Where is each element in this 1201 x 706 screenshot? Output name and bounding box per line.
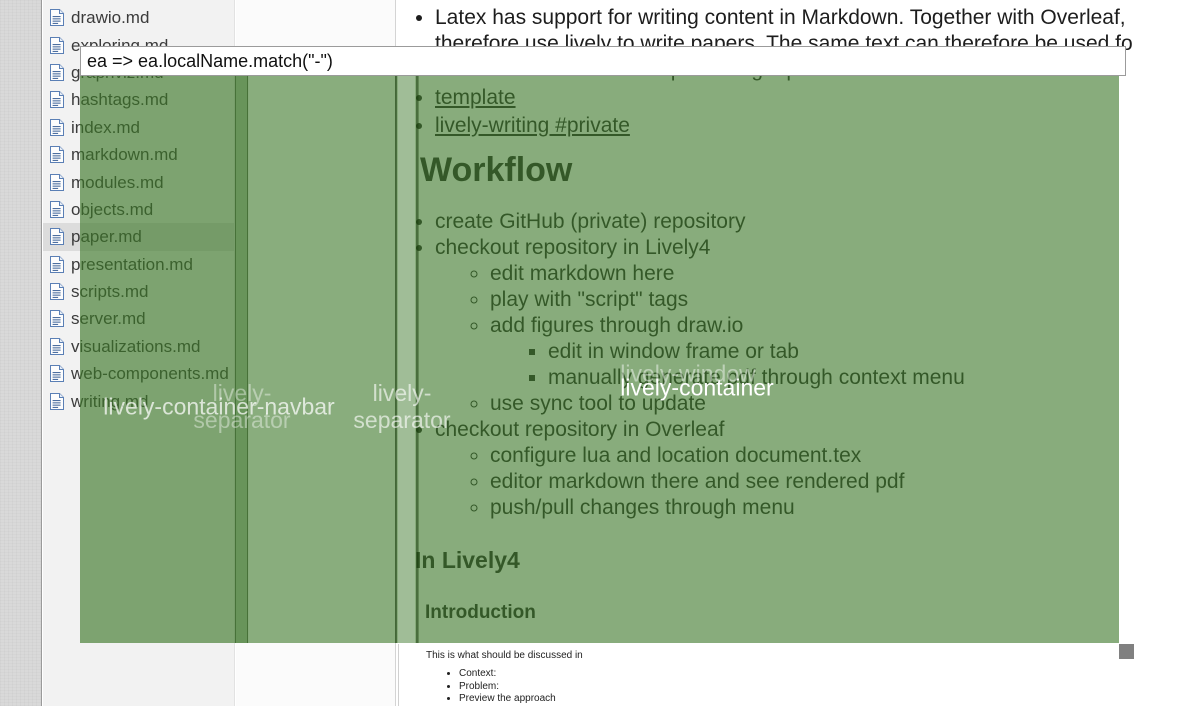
file-document-icon xyxy=(50,91,64,108)
list-item-label: play with "script" tags xyxy=(490,288,688,311)
lively-container-navbar-pane[interactable]: drawio.md exploring.md graphviz.md hasht… xyxy=(43,0,235,706)
file-list-item-label: scripts.md xyxy=(71,283,148,300)
file-list-item[interactable]: markdown.md xyxy=(43,141,234,168)
heading-in-lively4: In Lively4 xyxy=(415,549,1201,572)
list-item: template xyxy=(435,85,1201,111)
list-item-label: create GitHub (private) repository xyxy=(435,210,745,233)
file-list-item[interactable]: visualizations.md xyxy=(43,333,234,360)
file-list-item-label: markdown.md xyxy=(71,146,178,163)
file-list-item-label: objects.md xyxy=(71,201,153,218)
nested-list: configure lua and location document.texe… xyxy=(435,443,1201,521)
file-document-icon xyxy=(50,338,64,355)
heading-introduction: Introduction xyxy=(425,603,1201,622)
query-input[interactable] xyxy=(87,51,1125,72)
file-list-item[interactable]: presentation.md xyxy=(43,251,234,278)
file-document-icon xyxy=(50,119,64,136)
file-list-item-label: server.md xyxy=(71,310,146,327)
desktop-background xyxy=(0,0,42,706)
nested-bullet-list: Context:Problem:Preview the approachList… xyxy=(426,668,1201,706)
file-list-item-label: visualizations.md xyxy=(71,338,200,355)
list-item-label: editor markdown there and see rendered p… xyxy=(490,470,904,493)
list-item: create GitHub (private) repository xyxy=(435,209,1201,235)
file-list-item-label: index.md xyxy=(71,119,140,136)
nested-list: edit in window frame or tabmanually gene… xyxy=(490,339,1201,391)
file-list-item[interactable]: web-components.md xyxy=(43,360,234,387)
list-item-label: configure lua and location document.tex xyxy=(490,444,861,467)
nested-list: edit markdown hereplay with "script" tag… xyxy=(435,261,1201,417)
list-item: push/pull changes through menu xyxy=(490,495,1201,521)
file-document-icon xyxy=(50,283,64,300)
list-item: Preview the approach xyxy=(459,693,1201,706)
list-item: manually generate pdf through context me… xyxy=(548,365,1201,391)
list-item: checkout repository in Overleafconfigure… xyxy=(435,417,1201,521)
file-document-icon xyxy=(50,174,64,191)
list-item: add figures through draw.ioedit in windo… xyxy=(490,313,1201,391)
markdown-document: Latex has support for writing content in… xyxy=(397,0,1201,622)
file-document-icon xyxy=(50,9,64,26)
file-list-item[interactable]: drawio.md xyxy=(43,4,234,31)
file-document-icon xyxy=(50,365,64,382)
list-item: edit markdown here xyxy=(490,261,1201,287)
heading-workflow: Workflow xyxy=(420,153,1201,187)
file-document-icon xyxy=(50,393,64,410)
file-list-item[interactable]: index.md xyxy=(43,114,234,141)
file-list-item-label: modules.md xyxy=(71,174,164,191)
file-list-item-label: hashtags.md xyxy=(71,91,168,108)
list-item: play with "script" tags xyxy=(490,287,1201,313)
file-list-item-label: presentation.md xyxy=(71,256,193,273)
nested-document-preview[interactable]: This is what should be discussed in Cont… xyxy=(398,644,1201,706)
file-list-item[interactable]: paper.md xyxy=(43,223,234,250)
intro-line-1: Latex has support for writing content in… xyxy=(435,6,1126,29)
list-item: use sync tool to update xyxy=(490,391,1201,417)
file-document-icon xyxy=(50,37,64,54)
list-item: configure lua and location document.tex xyxy=(490,443,1201,469)
list-item-label: edit in window frame or tab xyxy=(548,340,799,363)
list-item: editor markdown there and see rendered p… xyxy=(490,469,1201,495)
query-input-container[interactable] xyxy=(80,46,1126,76)
file-list-item[interactable]: modules.md xyxy=(43,168,234,195)
file-list-item[interactable]: objects.md xyxy=(43,196,234,223)
list-item-label: edit markdown here xyxy=(490,262,674,285)
file-list-item-label: writing.md xyxy=(71,393,148,410)
file-list-item-label: paper.md xyxy=(71,228,142,245)
nested-lead-text: This is what should be discussed in xyxy=(426,649,1201,662)
file-list-item[interactable]: writing.md xyxy=(43,387,234,414)
list-item: Problem: xyxy=(459,681,1201,694)
link-template[interactable]: template xyxy=(435,86,516,109)
navbar-secondary-pane xyxy=(236,0,396,706)
lively-container-content[interactable]: Latex has support for writing content in… xyxy=(397,0,1201,706)
file-document-icon xyxy=(50,310,64,327)
file-document-icon xyxy=(50,201,64,218)
link-lively-writing[interactable]: lively-writing #private xyxy=(435,114,630,137)
app-root: drawio.md exploring.md graphviz.md hasht… xyxy=(0,0,1201,706)
list-item: lively-writing #private xyxy=(435,113,1201,139)
list-item: Context: xyxy=(459,668,1201,681)
file-list-item[interactable]: hashtags.md xyxy=(43,86,234,113)
workflow-list: create GitHub (private) repositorychecko… xyxy=(397,209,1201,521)
file-list-item[interactable]: scripts.md xyxy=(43,278,234,305)
file-document-icon xyxy=(50,146,64,163)
list-item-label: add figures through draw.io xyxy=(490,314,743,337)
file-document-icon xyxy=(50,256,64,273)
list-item-label: use sync tool to update xyxy=(490,392,706,415)
list-item-label: manually generate pdf through context me… xyxy=(548,366,965,389)
file-list-item[interactable]: server.md xyxy=(43,305,234,332)
list-item-label: checkout repository in Lively4 xyxy=(435,236,710,259)
file-document-icon xyxy=(50,228,64,245)
list-item: checkout repository in Lively4edit markd… xyxy=(435,235,1201,417)
file-document-icon xyxy=(50,64,64,81)
list-item: edit in window frame or tab xyxy=(548,339,1201,365)
file-list-item-label: drawio.md xyxy=(71,9,149,26)
list-item-label: checkout repository in Overleaf xyxy=(435,418,724,441)
file-list-item-label: web-components.md xyxy=(71,365,229,382)
list-item-label: push/pull changes through menu xyxy=(490,496,795,519)
